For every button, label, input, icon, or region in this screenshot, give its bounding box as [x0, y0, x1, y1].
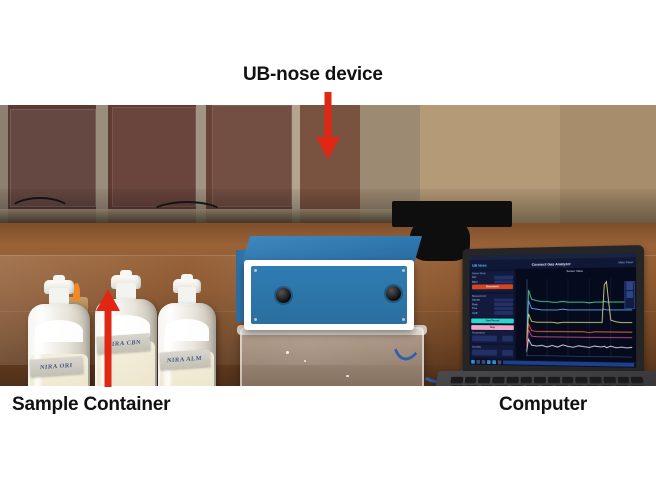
sidebar-connection-group: Device Setup Port Baud D	[471, 271, 514, 292]
sidebar-field-label: Sample	[472, 299, 480, 302]
gas-analyzer-app[interactable]: UB Nose Connect Gas Analyzer Main Panel …	[469, 252, 636, 368]
sidebar-group-heading: Measurement	[472, 294, 513, 297]
sidebar-field-value[interactable]	[494, 276, 513, 280]
readout-bar	[472, 335, 496, 341]
key	[520, 377, 532, 384]
arrow-to-device	[316, 92, 340, 160]
key-row	[449, 385, 644, 386]
chart-series-mq-2	[526, 289, 632, 348]
key	[562, 377, 574, 384]
container-speck	[286, 351, 289, 354]
arrow-shaft	[105, 309, 112, 387]
container-speck	[304, 360, 306, 362]
bottle-label: NIRA ALM	[159, 349, 210, 369]
readout-value	[502, 350, 513, 356]
sidebar-field-value[interactable]	[494, 311, 513, 314]
chart-title: Sensor Value	[517, 268, 635, 274]
readout-value	[502, 336, 513, 342]
sidebar-humidity-panel: Humidity	[471, 345, 514, 358]
key	[449, 385, 463, 386]
app-logo: UB Nose	[472, 262, 487, 267]
arrow-head	[316, 137, 340, 159]
app-sidebar[interactable]: Device Setup Port Baud D	[469, 269, 515, 366]
taskbar-icon[interactable]	[476, 360, 480, 364]
app-title: Connect Gas Analyzer	[490, 260, 614, 267]
app-header-right: Main Panel	[619, 260, 634, 264]
laptop-base	[424, 371, 656, 386]
laptop-keyboard[interactable]	[445, 377, 649, 386]
key	[586, 385, 599, 386]
bottle-shoulder	[35, 320, 82, 342]
arrow-to-sample-container	[96, 289, 120, 387]
sidebar-readout	[472, 350, 513, 356]
key	[506, 377, 518, 384]
key	[465, 385, 479, 386]
bottle-label-text: NIRA ORI	[40, 362, 73, 370]
sidebar-field[interactable]: Baud	[472, 280, 513, 284]
panel-screw	[402, 269, 405, 272]
key	[601, 385, 615, 386]
taskbar-icon[interactable]	[492, 360, 496, 364]
power-port	[276, 288, 291, 303]
key	[590, 377, 602, 384]
key	[525, 385, 538, 386]
sidebar-measurement-group: Measurement Sample Flush	[471, 293, 514, 316]
sidebar-field-value[interactable]	[494, 280, 513, 284]
taskbar-icon[interactable]	[498, 360, 502, 364]
panel-screw	[254, 269, 257, 272]
sidebar-field[interactable]: Sample	[472, 298, 513, 302]
sample-bottle: NIRA ORI	[28, 280, 90, 386]
panel-screw	[254, 318, 257, 321]
key	[576, 377, 588, 384]
key	[510, 385, 523, 386]
key	[631, 377, 644, 384]
annotation-computer: Computer	[499, 394, 587, 416]
start-record-button[interactable]: Start Record	[471, 319, 514, 324]
sidebar-field-value[interactable]	[494, 303, 513, 306]
chart-series-tgs-822	[526, 339, 632, 354]
disconnect-button[interactable]: Disconnect	[472, 284, 513, 289]
sidebar-field-value[interactable]	[494, 298, 513, 301]
sidebar-field-label: Baud	[472, 281, 477, 284]
annotation-sample-container: Sample Container	[12, 394, 170, 416]
taskbar-icon[interactable]	[487, 360, 491, 364]
key	[495, 385, 508, 386]
key	[464, 377, 477, 384]
laptop-screen[interactable]: UB Nose Connect Gas Analyzer Main Panel …	[469, 252, 636, 368]
key	[548, 377, 560, 384]
key	[616, 385, 630, 386]
sidebar-group-heading: Device Setup	[472, 272, 513, 275]
bottle-shoulder	[165, 319, 209, 341]
key	[571, 385, 584, 386]
taskbar-active-window[interactable]	[503, 360, 634, 366]
sidebar-field-label: Cycle	[472, 312, 478, 315]
app-body: Device Setup Port Baud D	[469, 267, 636, 368]
chart-side-legend	[624, 281, 635, 309]
key	[617, 377, 630, 384]
chart-svg	[526, 278, 632, 357]
key	[478, 377, 490, 384]
key-row	[450, 377, 643, 384]
key	[480, 385, 494, 386]
key	[631, 385, 645, 386]
sample-bottle: NIRA ALM	[158, 279, 216, 386]
sidebar-group-heading: Temperature	[472, 332, 513, 335]
key	[450, 377, 463, 384]
chart-plot-area	[526, 278, 632, 357]
sidebar-field[interactable]: Time	[472, 307, 513, 310]
sensor-chart[interactable]: Sensor Value	[516, 267, 636, 368]
key	[534, 377, 546, 384]
key	[492, 377, 504, 384]
sidebar-readout	[472, 335, 513, 341]
figure-root: UB-nose device Sample Container Computer	[0, 0, 656, 491]
sidebar-field-value[interactable]	[494, 307, 513, 310]
sidebar-field[interactable]: Port	[472, 276, 513, 280]
sidebar-field[interactable]: Flush	[472, 303, 513, 306]
key	[540, 385, 553, 386]
key	[556, 385, 569, 386]
start-button-icon[interactable]	[471, 360, 474, 364]
chart-series-mq-3	[526, 300, 632, 349]
key	[603, 377, 615, 384]
sidebar-field-label: Time	[472, 307, 477, 310]
device-front-frame	[244, 260, 414, 330]
sidebar-field-label: Flush	[472, 303, 478, 306]
bottle-label-text: NIRA ALM	[167, 355, 202, 363]
legend-entry	[626, 296, 634, 298]
bottle-body	[158, 303, 216, 386]
container-speck	[346, 375, 349, 377]
sidebar-temperature-panel: Temperature	[471, 331, 514, 344]
device-front-panel	[251, 266, 407, 324]
chart-series-mq-8	[526, 330, 632, 353]
annotation-ub-nose-device: UB-nose device	[243, 64, 383, 86]
laptop[interactable]: UB Nose Connect Gas Analyzer Main Panel …	[438, 245, 656, 386]
readout-bar	[472, 350, 496, 356]
taskbar-icon[interactable]	[482, 360, 486, 364]
sidebar-field-label: Port	[472, 276, 476, 279]
arrow-head	[96, 289, 120, 311]
sidebar-field[interactable]: Cycle	[472, 311, 513, 314]
laptop-lid: UB Nose Connect Gas Analyzer Main Panel …	[463, 245, 644, 376]
stop-button[interactable]: Stop	[471, 325, 514, 330]
